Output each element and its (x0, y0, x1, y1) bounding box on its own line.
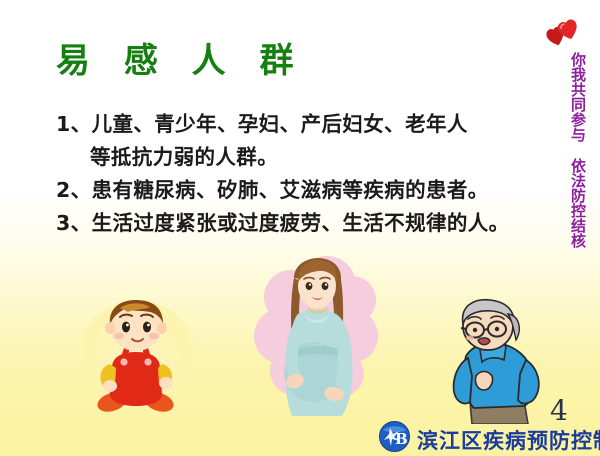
double-heart-icon (538, 18, 584, 52)
slide-canvas: 易 感 人 群 1、儿童、青少年、孕妇、产后妇女、老年人 等抵抗力弱的人群。 2… (0, 0, 600, 456)
pregnant-woman-illustration (244, 250, 386, 422)
banner-vertical-text-1: 你我共同参与 (562, 52, 586, 142)
boy-illustration (72, 292, 202, 420)
susceptible-groups-list: 1、儿童、青少年、孕妇、产后妇女、老年人 等抵抗力弱的人群。 2、患有糖尿病、矽… (56, 108, 506, 240)
binjiang-cdc-logo: B (379, 421, 410, 452)
list-item-1-line-2: 等抵抗力弱的人群。 (56, 141, 506, 174)
list-item-1-line-1: 1、儿童、青少年、孕妇、产后妇女、老年人 (56, 108, 506, 141)
boy-figure (90, 298, 182, 416)
list-item-3-line-1: 3、生活过度紧张或过度疲劳、生活不规律的人。 (56, 207, 506, 240)
page-title: 易 感 人 群 (56, 44, 305, 78)
organization-name: 滨江区疾病预防控制中心 (417, 425, 600, 455)
list-item-2-line-1: 2、患有糖尿病、矽肺、艾滋病等疾病的患者。 (56, 174, 506, 207)
woman-figure (268, 256, 364, 420)
banner-vertical-text-2: 依法防控结核 (562, 158, 586, 248)
svg-text:B: B (395, 430, 408, 448)
page-number: 4 (550, 397, 568, 425)
campaign-banner: 你我共同参与 依法防控结核 (540, 18, 586, 258)
elderly-person-illustration (420, 298, 552, 424)
elderly-figure (428, 298, 548, 424)
